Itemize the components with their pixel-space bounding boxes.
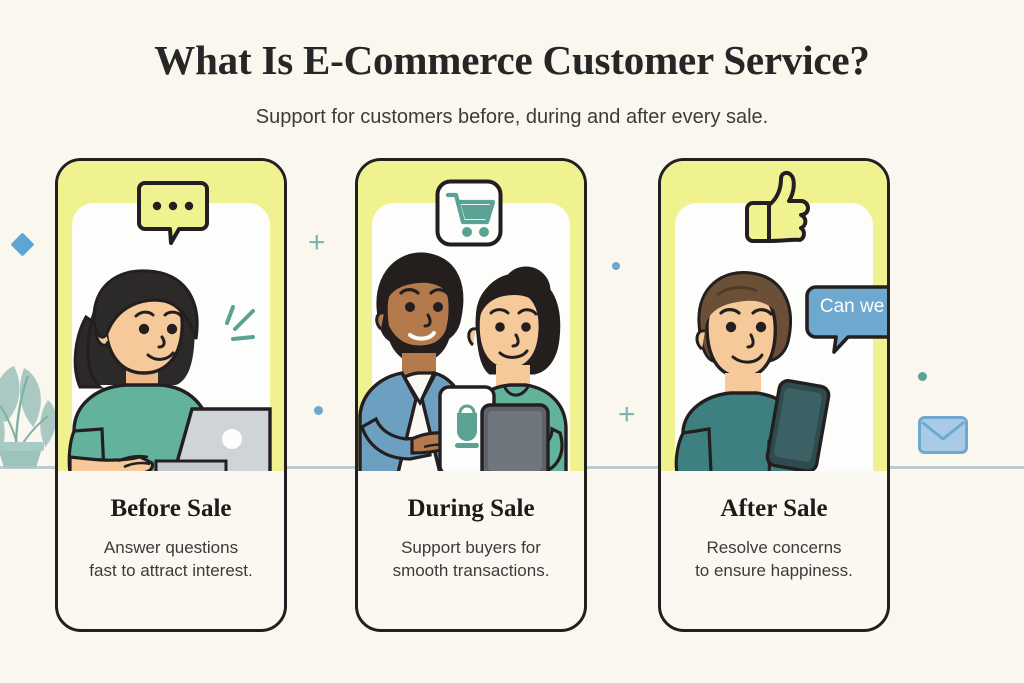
envelope-icon [918, 416, 968, 454]
plus-decoration-1: + [308, 228, 326, 258]
card-title: Before Sale [58, 495, 284, 523]
chat-bubble-icon [137, 177, 209, 249]
plus-decoration-2: + [618, 400, 636, 430]
dot-decoration-3 [612, 262, 620, 270]
card-description: Support buyers for smooth transactions. [358, 537, 584, 583]
infographic-canvas: What Is E-Commerce Customer Service? Sup… [0, 0, 1024, 683]
card-description-line2: to ensure happiness. [675, 560, 873, 583]
two-people-illustration [358, 247, 584, 471]
dot-decoration-4 [918, 372, 927, 381]
card-illustration-before-sale [58, 161, 284, 471]
card-description: Resolve concerns to ensure happiness. [661, 537, 887, 583]
shopping-cart-icon [435, 179, 503, 247]
card-description-line2: fast to attract interest. [72, 560, 270, 583]
thumbs-up-icon [741, 169, 811, 247]
card-title: After Sale [661, 495, 887, 523]
card-description-line2: smooth transactions. [372, 560, 570, 583]
card-illustration-after-sale: Can we help? [661, 161, 887, 471]
card-description-line1: Support buyers for [372, 537, 570, 560]
page-subtitle: Support for customers before, during and… [0, 106, 1024, 129]
card-after-sale[interactable]: Can we help? [658, 158, 890, 632]
card-illustration-during-sale [358, 161, 584, 471]
card-description: Answer questions fast to attract interes… [58, 537, 284, 583]
diamond-shape [10, 232, 34, 256]
card-text-before-sale: Before Sale Answer questions fast to att… [58, 473, 284, 629]
dot-decoration-1 [314, 406, 323, 415]
card-description-line1: Answer questions [72, 537, 270, 560]
card-during-sale[interactable]: During Sale Support buyers for smooth tr… [355, 158, 587, 632]
page-title: What Is E-Commerce Customer Service? [0, 36, 1024, 84]
man-with-phone-illustration [665, 265, 887, 471]
potted-plant-icon [0, 330, 58, 470]
woman-at-laptop-illustration [58, 261, 284, 471]
card-before-sale[interactable]: Before Sale Answer questions fast to att… [55, 158, 287, 632]
card-title: During Sale [358, 495, 584, 523]
card-text-after-sale: After Sale Resolve concerns to ensure ha… [661, 473, 887, 629]
card-text-during-sale: During Sale Support buyers for smooth tr… [358, 473, 584, 629]
card-description-line1: Resolve concerns [675, 537, 873, 560]
